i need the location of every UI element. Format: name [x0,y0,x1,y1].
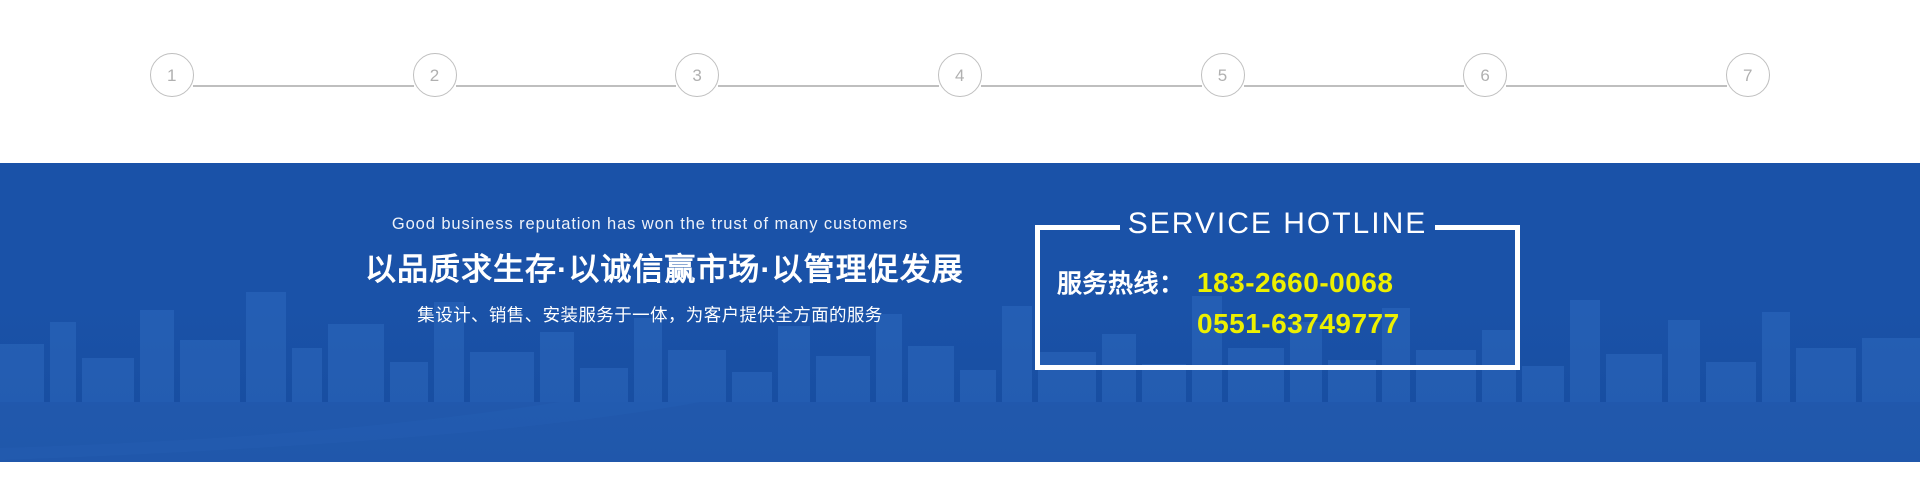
hotline-row-primary: 服务热线： 183-2660-0068 [1057,265,1520,300]
service-hotline-box: SERVICE HOTLINE 服务热线： 183-2660-0068 服务热线… [1035,225,1520,370]
step-connector-5-6 [1244,85,1465,87]
hotline-number-landline[interactable]: 0551-63749777 [1197,306,1400,341]
step-number-label: 6 [1480,67,1490,84]
step-number-label: 4 [955,67,965,84]
step-number-label: 2 [430,67,440,84]
step-number-label: 7 [1743,67,1753,84]
promo-banner: Good business reputation has won the tru… [0,163,1920,462]
step-connector-1-2 [193,85,414,87]
step-node-7[interactable]: 7 [1726,53,1770,97]
hotline-number-list: 服务热线： 183-2660-0068 服务热线： 0551-63749777 [1035,265,1520,342]
step-node-3[interactable]: 3 [675,53,719,97]
step-connector-3-4 [718,85,939,87]
service-hotline-title: SERVICE HOTLINE [1035,209,1520,239]
step-connector-6-7 [1506,85,1727,87]
step-node-1[interactable]: 1 [150,53,194,97]
step-number-label: 1 [167,67,177,84]
stepper-section: 1 2 3 4 5 6 7 [0,0,1920,163]
step-number-label: 5 [1218,67,1228,84]
hotline-border-bottom [1035,365,1520,370]
slogan-subtitle: 集设计、销售、安装服务于一体，为客户提供全方面的服务 [365,304,935,327]
step-number-label: 3 [692,67,702,84]
step-connector-2-3 [456,85,677,87]
banner-content: Good business reputation has won the tru… [0,163,1920,462]
hotline-label: 服务热线： [1057,269,1197,300]
step-node-4[interactable]: 4 [938,53,982,97]
hotline-number-mobile[interactable]: 183-2660-0068 [1197,265,1393,300]
slogan-english-line: Good business reputation has won the tru… [365,215,935,235]
step-connector-4-5 [981,85,1202,87]
slogan-block: Good business reputation has won the tru… [365,215,935,326]
hotline-row-secondary: 服务热线： 0551-63749777 [1057,306,1520,341]
step-node-6[interactable]: 6 [1463,53,1507,97]
step-node-5[interactable]: 5 [1201,53,1245,97]
slogan-main-headline: 以品质求生存·以诚信赢市场·以管理促发展 [365,251,935,290]
step-node-2[interactable]: 2 [413,53,457,97]
